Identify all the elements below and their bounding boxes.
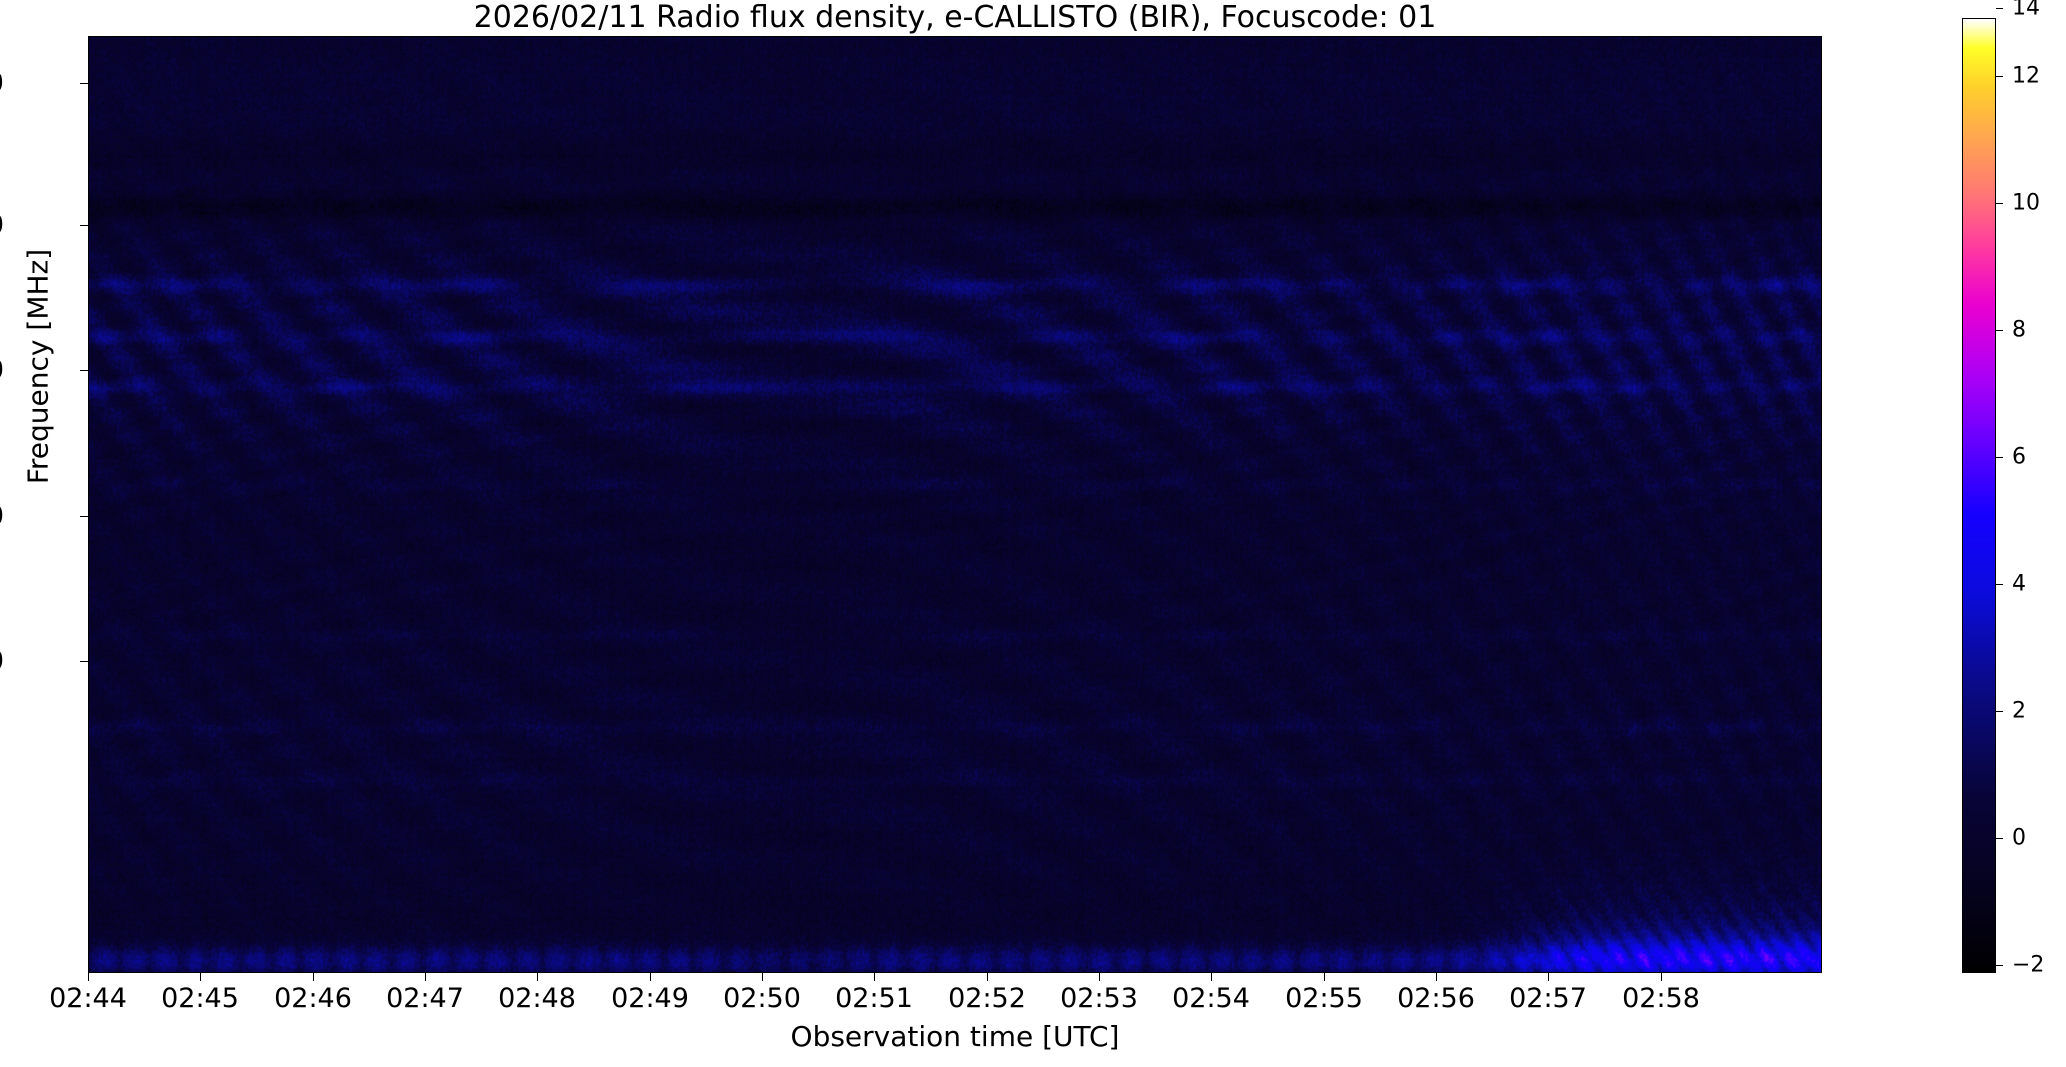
y-tick-mark-20 bbox=[80, 661, 88, 662]
x-tick-label-0250: 02:50 bbox=[723, 983, 801, 1014]
x-tick-label-0258: 02:58 bbox=[1622, 983, 1700, 1014]
colorbar-tick-label-2: 2 bbox=[2012, 699, 2026, 724]
y-tick-mark-100 bbox=[80, 83, 88, 84]
x-tick-label-0249: 02:49 bbox=[611, 983, 689, 1014]
colorbar-tick-mark-8 bbox=[1996, 330, 2003, 331]
x-tick-mark-0251 bbox=[874, 973, 875, 981]
x-tick-mark-0246 bbox=[313, 973, 314, 981]
y-tick-label-100: 100 bbox=[0, 68, 4, 99]
colorbar-tick-mark-neg2 bbox=[1996, 965, 2003, 966]
y-tick-mark-80 bbox=[80, 225, 88, 226]
x-tick-label-0254: 02:54 bbox=[1172, 983, 1250, 1014]
spectrogram-image bbox=[89, 37, 1821, 972]
x-tick-mark-0245 bbox=[200, 973, 201, 981]
chart-title: 2026/02/11 Radio flux density, e-CALLIST… bbox=[88, 2, 1822, 34]
x-tick-label-0251: 02:51 bbox=[835, 983, 913, 1014]
y-axis-label: Frequency [MHz] bbox=[22, 157, 55, 577]
x-tick-label-0257: 02:57 bbox=[1509, 983, 1587, 1014]
x-tick-mark-0257 bbox=[1548, 973, 1549, 981]
x-tick-mark-0258 bbox=[1661, 973, 1662, 981]
colorbar-tick-label-8: 8 bbox=[2012, 318, 2026, 343]
x-tick-label-0247: 02:47 bbox=[386, 983, 464, 1014]
x-tick-mark-0249 bbox=[650, 973, 651, 981]
x-tick-mark-0255 bbox=[1324, 973, 1325, 981]
x-tick-label-0245: 02:45 bbox=[161, 983, 239, 1014]
colorbar-tick-mark-0 bbox=[1996, 838, 2003, 839]
x-tick-label-0255: 02:55 bbox=[1285, 983, 1363, 1014]
y-tick-label-40: 40 bbox=[0, 501, 4, 532]
x-tick-label-0244: 02:44 bbox=[49, 983, 127, 1014]
y-tick-label-80: 80 bbox=[0, 210, 4, 241]
colorbar-tick-mark-4 bbox=[1996, 584, 2003, 585]
colorbar-tick-mark-14 bbox=[1996, 8, 2003, 9]
colorbar-tick-mark-10 bbox=[1996, 203, 2003, 204]
x-tick-mark-0252 bbox=[987, 973, 988, 981]
colorbar-tick-mark-12 bbox=[1996, 76, 2003, 77]
x-tick-mark-0253 bbox=[1099, 973, 1100, 981]
x-tick-label-0252: 02:52 bbox=[948, 983, 1026, 1014]
colorbar-tick-mark-2 bbox=[1996, 711, 2003, 712]
colorbar-axes[interactable] bbox=[1962, 18, 1996, 973]
y-tick-mark-40 bbox=[80, 516, 88, 517]
colorbar-tick-label-neg2: −2 bbox=[2012, 953, 2044, 978]
x-tick-label-0248: 02:48 bbox=[498, 983, 576, 1014]
colorbar-tick-label-6: 6 bbox=[2012, 445, 2026, 470]
figure-canvas: 2026/02/11 Radio flux density, e-CALLIST… bbox=[0, 0, 2066, 1067]
colorbar-tick-mark-6 bbox=[1996, 457, 2003, 458]
colorbar-tick-label-12: 12 bbox=[2012, 64, 2040, 89]
x-tick-label-0246: 02:46 bbox=[274, 983, 352, 1014]
x-axis-label: Observation time [UTC] bbox=[88, 1020, 1822, 1053]
colorbar-tick-label-14: 14 bbox=[2012, 0, 2040, 21]
y-tick-label-60: 60 bbox=[0, 355, 4, 386]
colorbar-tick-label-10: 10 bbox=[2012, 191, 2040, 216]
x-tick-mark-0244 bbox=[88, 973, 89, 981]
y-tick-label-20: 20 bbox=[0, 646, 4, 677]
spectrogram-axes[interactable] bbox=[88, 36, 1822, 973]
x-tick-label-0253: 02:53 bbox=[1060, 983, 1138, 1014]
x-tick-mark-0254 bbox=[1211, 973, 1212, 981]
x-tick-mark-0247 bbox=[425, 973, 426, 981]
x-tick-mark-0250 bbox=[762, 973, 763, 981]
x-tick-mark-0256 bbox=[1436, 973, 1437, 981]
colorbar-gradient bbox=[1963, 19, 1995, 972]
y-tick-mark-60 bbox=[80, 370, 88, 371]
x-tick-mark-0248 bbox=[537, 973, 538, 981]
colorbar-tick-label-4: 4 bbox=[2012, 572, 2026, 597]
colorbar-tick-label-0: 0 bbox=[2012, 826, 2026, 851]
x-tick-label-0256: 02:56 bbox=[1397, 983, 1475, 1014]
